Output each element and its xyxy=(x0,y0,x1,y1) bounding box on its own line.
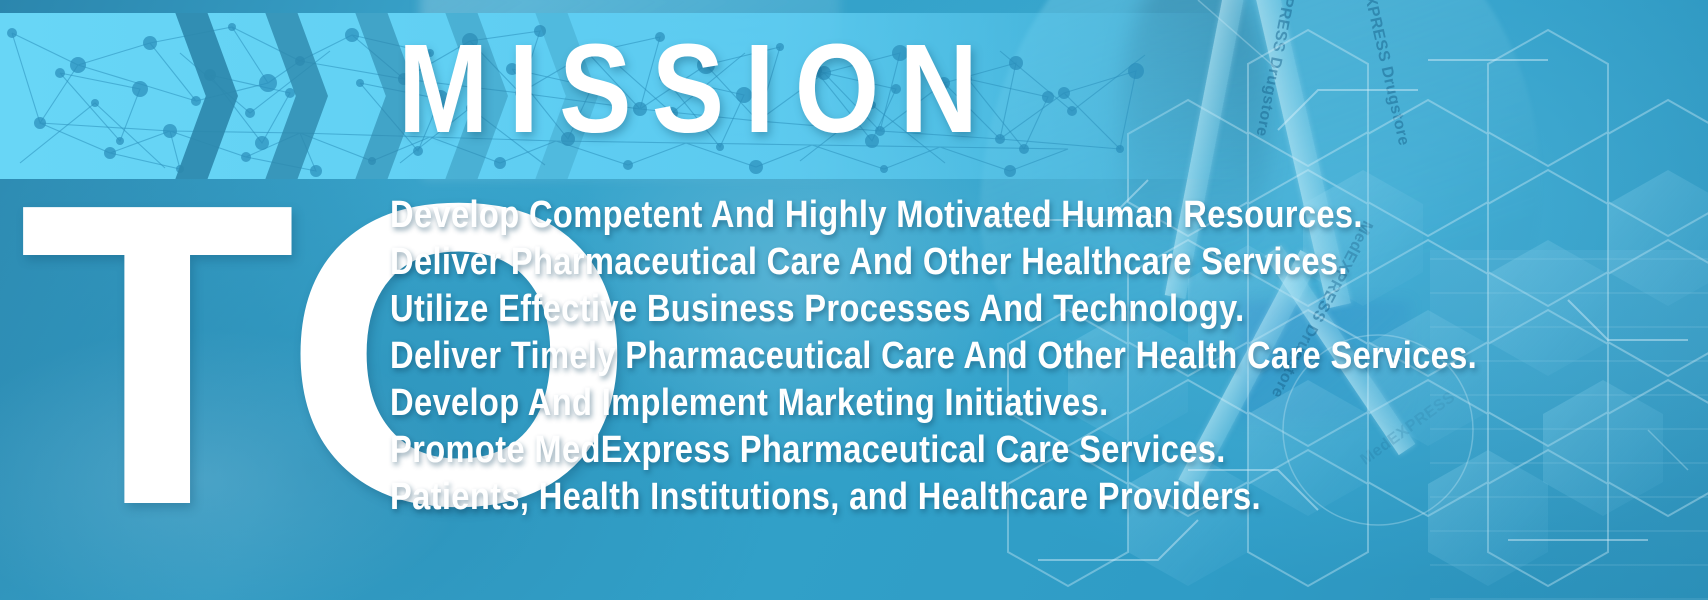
mission-statement-line: Deliver Pharmaceutical Care And Other He… xyxy=(390,239,1499,286)
mission-statement-list: Develop Competent And Highly Motivated H… xyxy=(390,192,1680,521)
mission-statement-line: Deliver Timely Pharmaceutical Care And O… xyxy=(390,333,1499,380)
mission-statement-line: Utilize Effective Business Processes And… xyxy=(390,286,1499,333)
mission-statement-line: Promote MedExpress Pharmaceutical Care S… xyxy=(390,427,1499,474)
mission-statement-line: Patients, Health Institutions, and Healt… xyxy=(390,474,1499,521)
mission-statement-line: Develop Competent And Highly Motivated H… xyxy=(390,192,1499,239)
mission-banner: MedEXPRESS Drugstore MedEXPRESS Drugstor… xyxy=(0,0,1708,600)
page-title-mission: MISSION xyxy=(398,22,998,158)
mission-statement-line: Develop And Implement Marketing Initiati… xyxy=(390,380,1499,427)
